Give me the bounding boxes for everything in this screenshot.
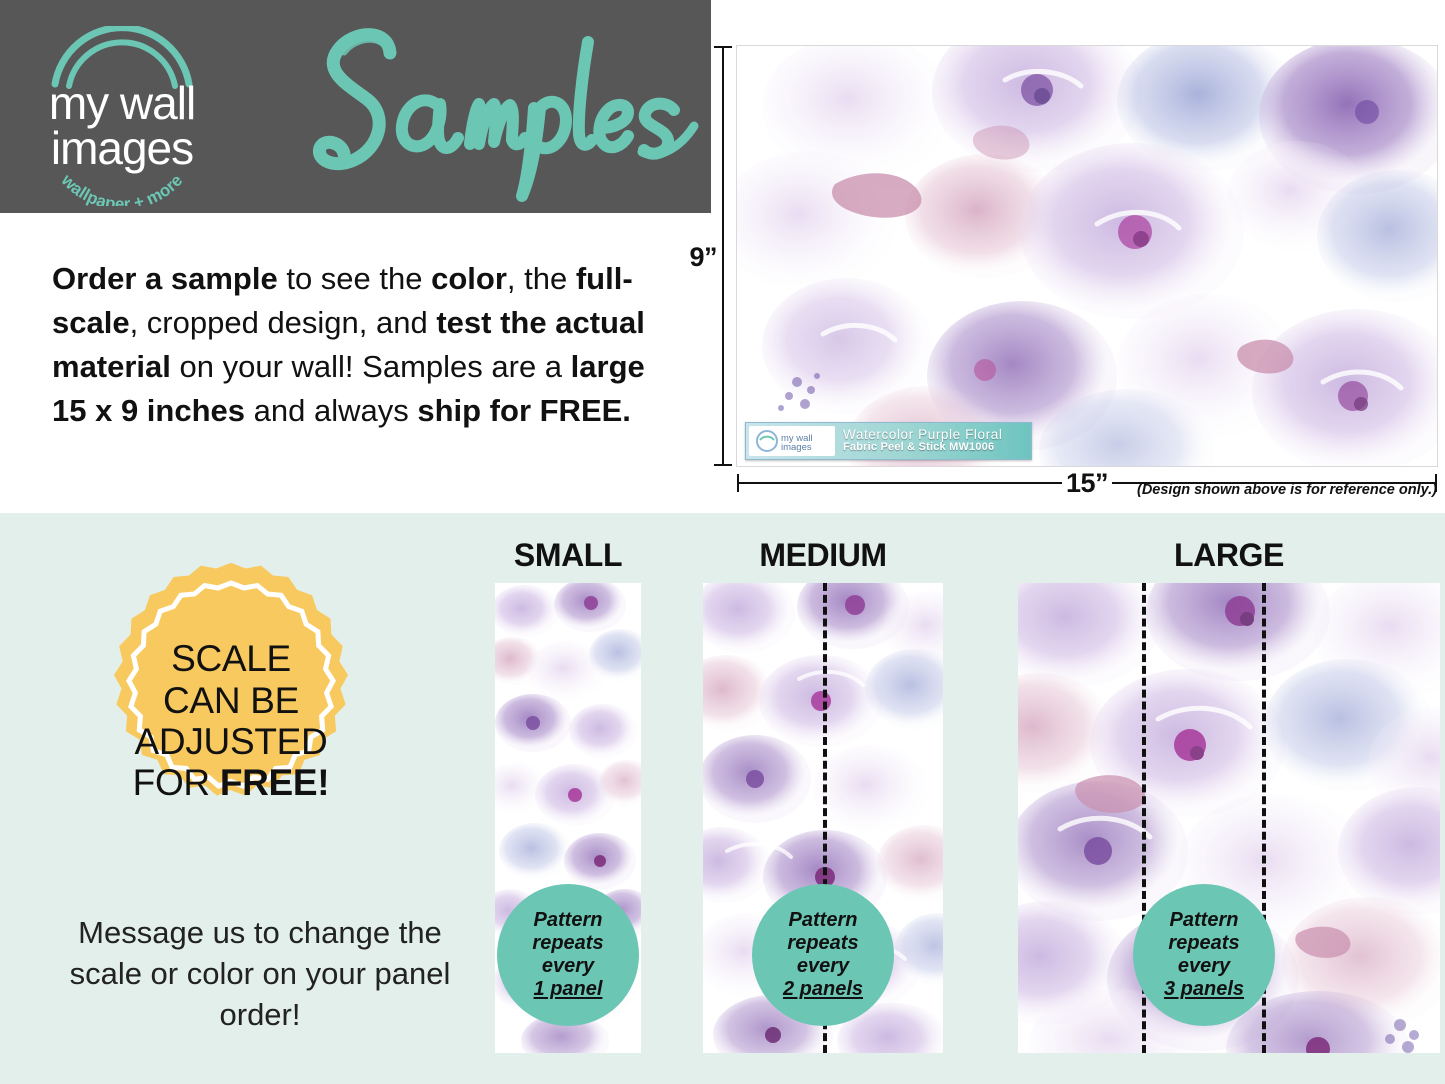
intro-text-3: , cropped design, and <box>130 305 437 340</box>
sample-preview-image: my wall images Watercolor Purple Floral … <box>737 46 1437 466</box>
badge-line-4: FOR FREE! <box>133 762 330 803</box>
svg-text:images: images <box>781 442 812 453</box>
bubble-large-line-4: 3 panels <box>1164 978 1244 1001</box>
tag-text-block: Watercolor Purple Floral Fabric Peel & S… <box>843 428 1002 454</box>
bubble-medium-line-4: 2 panels <box>783 978 863 1001</box>
sample-design-tag: my wall images Watercolor Purple Floral … <box>745 422 1032 460</box>
message-us-text: Message us to change the scale or color … <box>40 912 480 1036</box>
repeat-bubble-large: Pattern repeats every 3 panels <box>1133 884 1275 1026</box>
height-dimension-cap-bottom <box>714 464 732 466</box>
bubble-small-line-2: repeats <box>532 932 603 955</box>
brand-logo: my wall images wallpaper + more <box>22 26 222 206</box>
bubble-small-line-4: 1 panel <box>534 978 603 1001</box>
tag-material-sku: Fabric Peel & Stick MW1006 <box>843 442 1002 454</box>
tag-brand-logo: my wall images <box>749 426 835 456</box>
bubble-medium-line-1: Pattern <box>789 909 858 932</box>
bubble-medium-line-3: every <box>797 955 849 978</box>
column-title-medium: MEDIUM <box>703 537 943 574</box>
intro-text-4: on your wall! Samples are a <box>171 349 571 384</box>
height-dimension-line <box>722 46 724 466</box>
intro-text-2: , the <box>507 261 576 296</box>
badge-text: SCALE CAN BE ADJUSTED FOR FREE! <box>72 562 390 880</box>
height-dimension-cap-top <box>714 46 732 48</box>
repeat-bubble-small: Pattern repeats every 1 panel <box>497 884 639 1026</box>
bubble-small-line-1: Pattern <box>534 909 603 932</box>
sample-info-graphic: my wall images wallpaper + more <box>0 0 1445 1084</box>
column-title-large: LARGE <box>1018 537 1440 574</box>
floral-pattern-art <box>737 46 1437 466</box>
tag-design-name: Watercolor Purple Floral <box>843 428 1002 442</box>
intro-paragraph: Order a sample to see the color, the ful… <box>52 257 677 433</box>
badge-free-text: FREE! <box>220 762 330 803</box>
intro-bold-color: color <box>431 261 507 296</box>
svg-text:wallpaper + more: wallpaper + more <box>57 170 186 206</box>
column-title-small: SMALL <box>495 537 641 574</box>
samples-script-title <box>238 8 708 208</box>
bubble-large-line-2: repeats <box>1168 932 1239 955</box>
svg-text:images: images <box>51 122 193 174</box>
height-dimension-label: 9” <box>665 242 717 273</box>
badge-for-text: FOR <box>133 762 220 803</box>
reference-disclaimer: (Design shown above is for reference onl… <box>737 482 1437 498</box>
bubble-large-line-1: Pattern <box>1170 909 1239 932</box>
badge-line-1: SCALE <box>171 638 291 679</box>
intro-bold-order: Order a sample <box>52 261 278 296</box>
intro-text-5: and always <box>245 393 417 428</box>
badge-line-2: CAN BE <box>163 680 299 721</box>
bubble-medium-line-2: repeats <box>787 932 858 955</box>
scale-free-badge: SCALE CAN BE ADJUSTED FOR FREE! <box>72 562 390 880</box>
bubble-large-line-3: every <box>1178 955 1230 978</box>
badge-line-3: ADJUSTED <box>135 721 328 762</box>
repeat-bubble-medium: Pattern repeats every 2 panels <box>752 884 894 1026</box>
intro-text-1: to see the <box>278 261 431 296</box>
header-bar: my wall images wallpaper + more <box>0 0 711 213</box>
intro-bold-free: ship for FREE. <box>417 393 631 428</box>
bubble-small-line-3: every <box>542 955 594 978</box>
height-dimension: 9” <box>710 46 736 466</box>
